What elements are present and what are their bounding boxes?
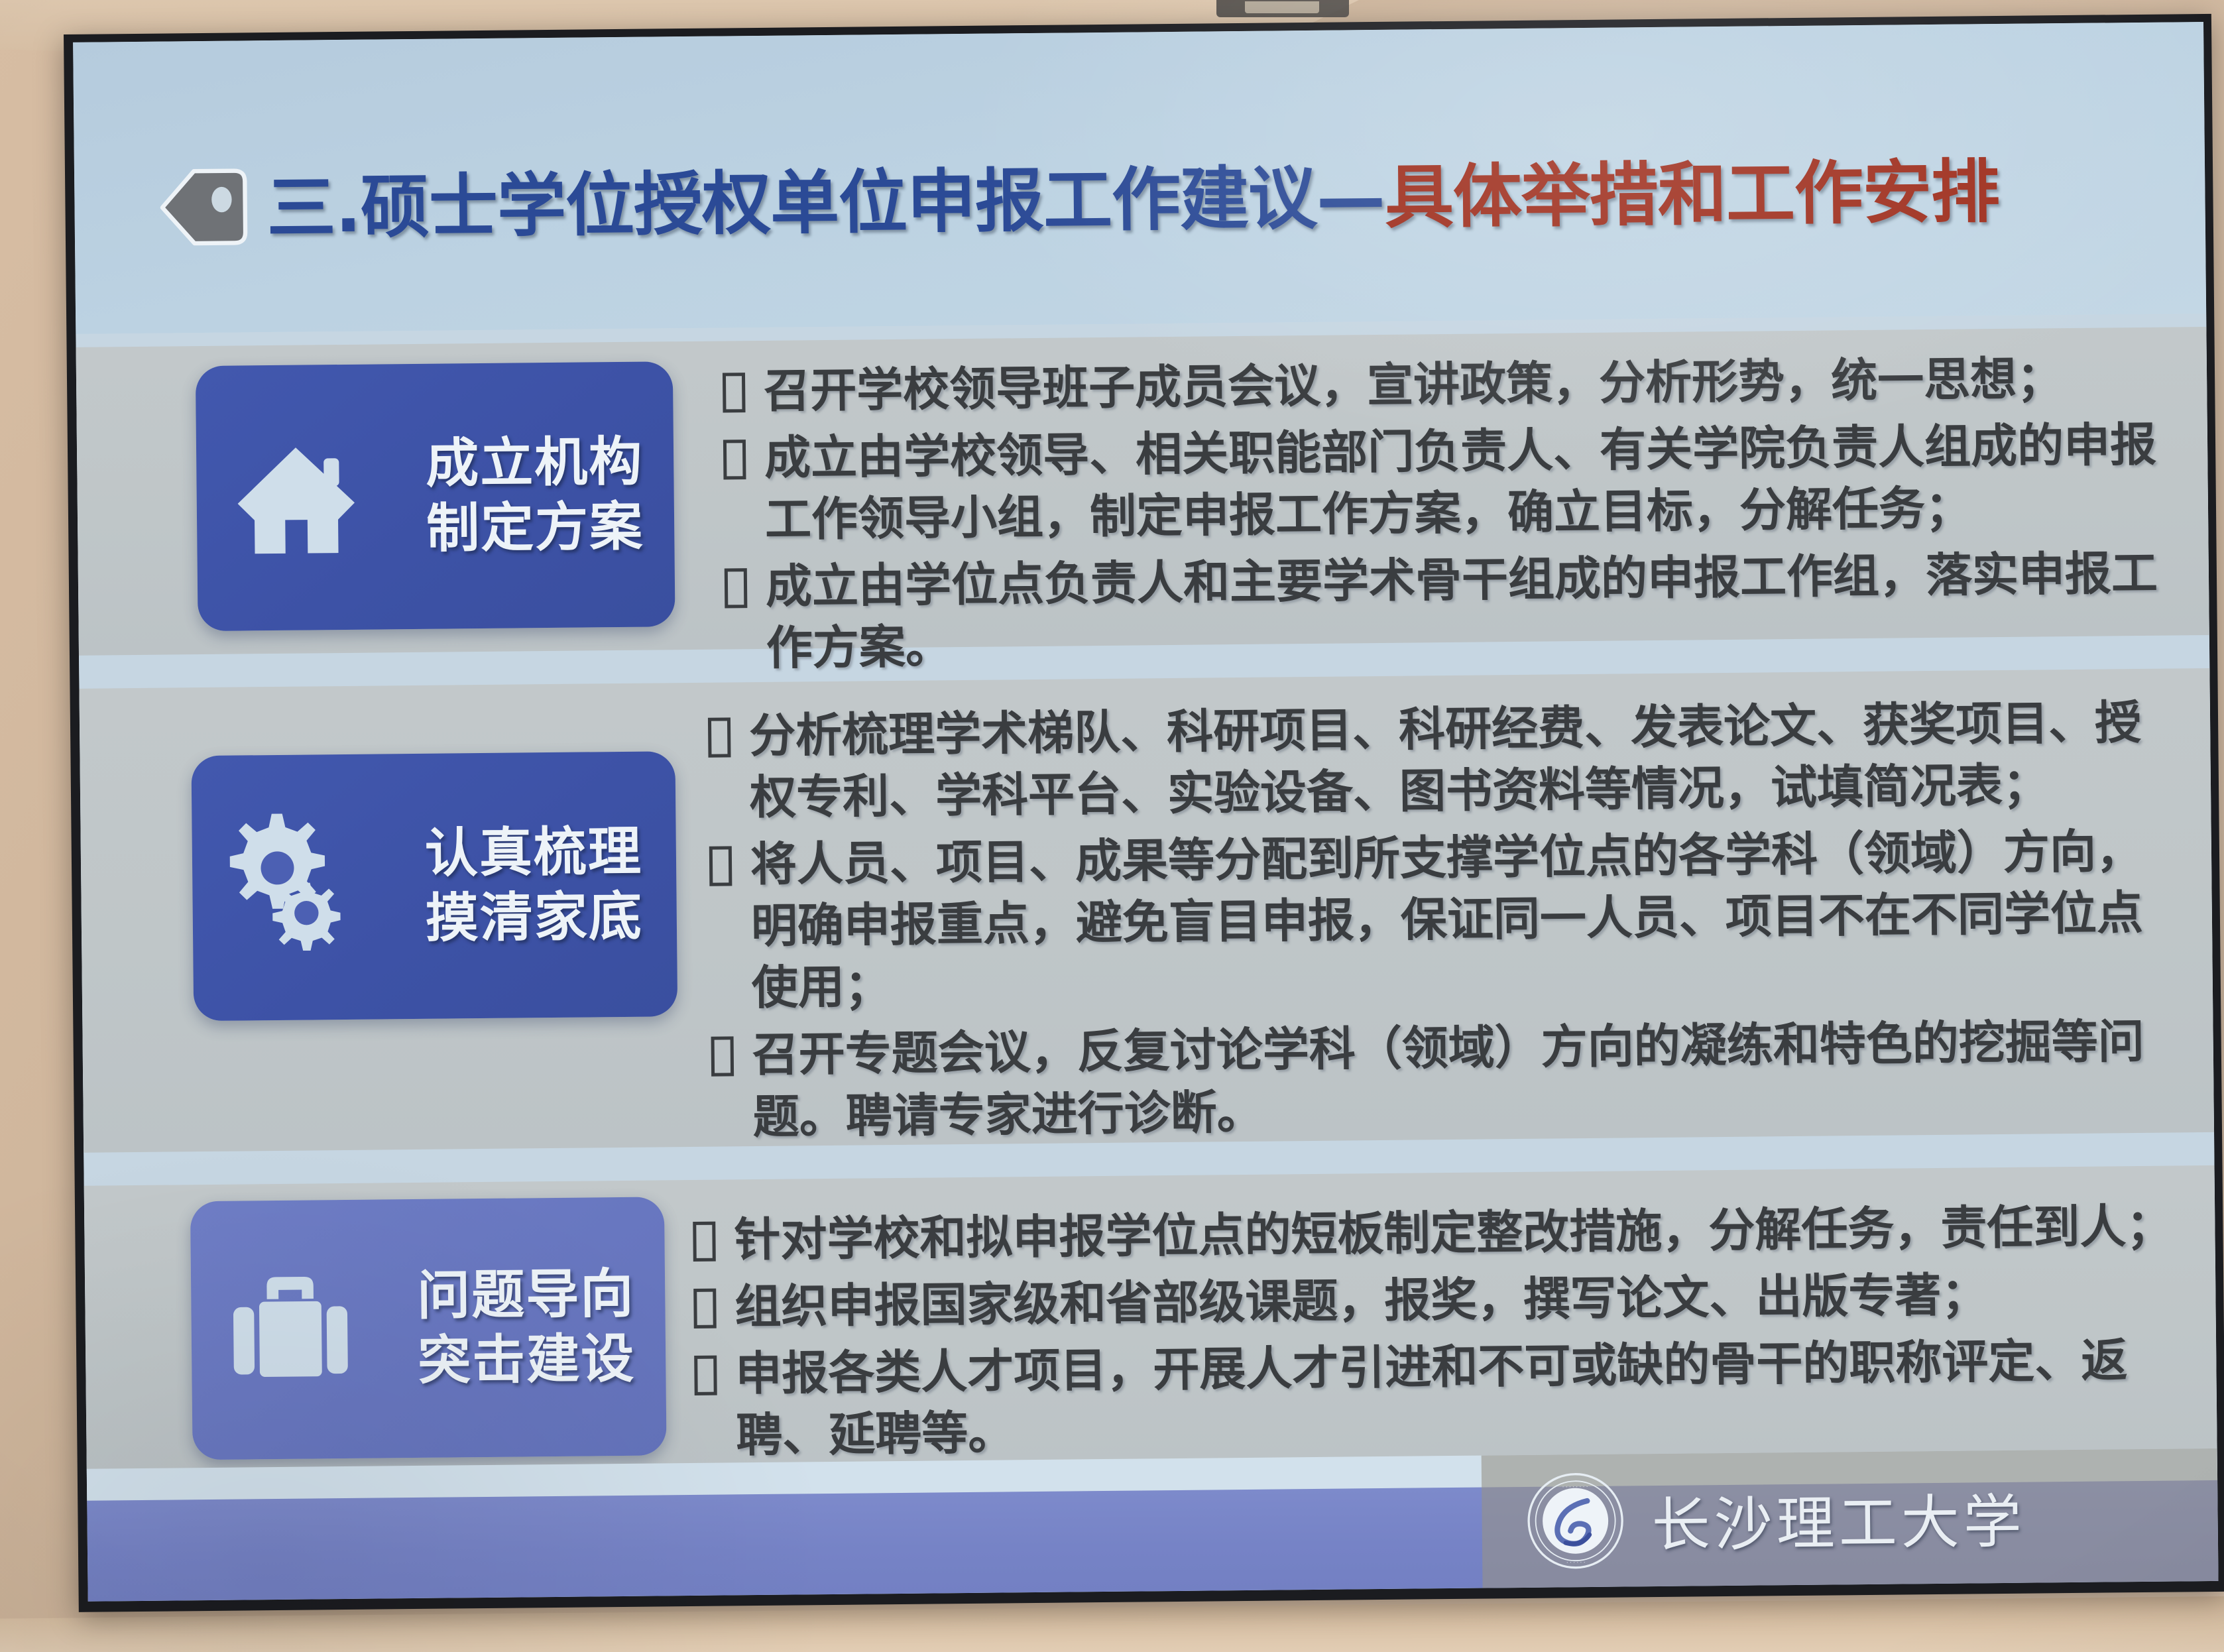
bullet-marker-icon bbox=[725, 568, 752, 608]
section-chip-3-label: 问题导向 突击建设 bbox=[386, 1262, 666, 1393]
page-title-main: 三.硕士学位授权单位申报工作建议— bbox=[266, 157, 1385, 249]
bullet-marker-icon bbox=[708, 717, 735, 757]
section-chip-2-line1: 认真梳理 bbox=[424, 819, 642, 886]
house-icon bbox=[196, 364, 397, 631]
page-title: 三.硕士学位授权单位申报工作建议—具体举措和工作安排 bbox=[266, 141, 2123, 258]
bullet-marker-icon bbox=[693, 1289, 721, 1328]
bullet-marker-icon bbox=[693, 1222, 720, 1262]
bullet-marker-icon bbox=[723, 440, 750, 479]
section-chip-3-line1: 问题导向 bbox=[417, 1262, 635, 1328]
ceiling-object-highlight bbox=[1245, 1, 1319, 13]
list-item-text: 成立由学校领导、相关职能部门负责人、有关学院负责人组成的申报工作领导小组，制定申… bbox=[764, 414, 2170, 552]
bullet-marker-icon bbox=[723, 373, 750, 412]
list-item: 将人员、项目、成果等分配到所支撑学位点的各学科（领域）方向，明确申报重点，避免盲… bbox=[709, 821, 2180, 1020]
section-chip-2-label: 认真梳理 摸清家底 bbox=[390, 819, 677, 951]
section-chip-2-line2: 摸清家底 bbox=[425, 884, 643, 951]
list-item: 成立由学位点负责人和主要学术骨干组成的申报工作组，落实申报工作方案。 bbox=[725, 543, 2171, 680]
list-item-text: 申报各类人才项目，开展人才引进和不可或缺的骨干的职称评定、返聘、延聘等。 bbox=[735, 1330, 2187, 1467]
section-bullets-3: 针对学校和拟申报学位点的短板制定整改措施，分解任务，责任到人； 组织申报国家级和… bbox=[693, 1195, 2187, 1467]
list-item: 召开学校领导班子成员会议，宣讲政策，分析形势，统一思想； bbox=[723, 347, 2168, 423]
slide-header: 三.硕士学位授权单位申报工作建议—具体举措和工作安排 bbox=[73, 22, 2206, 334]
list-item-text: 将人员、项目、成果等分配到所支撑学位点的各学科（领域）方向，明确申报重点，避免盲… bbox=[750, 821, 2180, 1020]
bullet-marker-icon bbox=[711, 1037, 738, 1077]
bullet-marker-icon bbox=[694, 1356, 721, 1395]
section-chip-1-line1: 成立机构 bbox=[426, 430, 644, 497]
tag-icon bbox=[147, 152, 255, 263]
page-title-accent: 具体举措和工作安排 bbox=[1384, 151, 1999, 238]
section-chip-3[interactable]: 问题导向 突击建设 bbox=[190, 1197, 667, 1460]
list-item-text: 召开学校领导班子成员会议，宣讲政策，分析形势，统一思想； bbox=[764, 347, 2168, 422]
list-item: 召开专题会议，反复讨论学科（领域）方向的凝练和特色的挖掘等问题。聘请专家进行诊断… bbox=[711, 1011, 2180, 1148]
list-item-text: 组织申报国家级和省部级课题，报奖，撰写论文、出版专著； bbox=[734, 1262, 2186, 1338]
section-chip-1[interactable]: 成立机构 制定方案 bbox=[196, 361, 675, 631]
section-chip-2[interactable]: 认真梳理 摸清家底 bbox=[191, 751, 677, 1021]
list-item-text: 成立由学位点负责人和主要学术骨干组成的申报工作组，落实申报工作方案。 bbox=[766, 543, 2171, 680]
list-item-text: 分析梳理学术梯队、科研项目、科研经费、发表论文、获奖项目、授权专利、学科平台、实… bbox=[749, 691, 2178, 829]
gears-icon bbox=[191, 754, 392, 1021]
bullet-marker-icon bbox=[709, 847, 736, 886]
section-chip-3-line2: 突击建设 bbox=[418, 1327, 636, 1393]
briefcase-icon bbox=[190, 1199, 388, 1460]
section-chip-1-line2: 制定方案 bbox=[426, 495, 644, 561]
list-item-text: 针对学校和拟申报学位点的短板制定整改措施，分解任务，责任到人； bbox=[734, 1195, 2185, 1271]
list-item: 分析梳理学术梯队、科研项目、科研经费、发表论文、获奖项目、授权专利、学科平台、实… bbox=[708, 691, 2178, 829]
projection-screen-bezel: 三.硕士学位授权单位申报工作建议—具体举措和工作安排 bbox=[64, 14, 2224, 1612]
list-item: 申报各类人才项目，开展人才引进和不可或缺的骨干的职称评定、返聘、延聘等。 bbox=[694, 1330, 2187, 1468]
university-brand: . . . . . . . . . . . . . . 长沙理工大学 bbox=[1482, 1448, 2219, 1588]
section-bullets-1: 召开学校领导班子成员会议，宣讲政策，分析形势，统一思想； 成立由学校领导、相关职… bbox=[723, 347, 2171, 680]
svg-text:. . . . . . . .: . . . . . . . . bbox=[1562, 1482, 1588, 1488]
presentation-slide: 三.硕士学位授权单位申报工作建议—具体举措和工作安排 bbox=[73, 22, 2218, 1602]
university-seal-icon: . . . . . . . . . . . . . . bbox=[1525, 1470, 1625, 1570]
university-name: 长沙理工大学 bbox=[1651, 1474, 2026, 1562]
photograph-of-projected-slide: 三.硕士学位授权单位申报工作建议—具体举措和工作安排 bbox=[0, 0, 2224, 1652]
slide-body: 成立机构 制定方案 召开学校领导班子成员会议，宣讲政策，分析形势，统一思想； 成… bbox=[76, 314, 2217, 1501]
list-item-text: 召开专题会议，反复讨论学科（领域）方向的凝练和特色的挖掘等问题。聘请专家进行诊断… bbox=[752, 1011, 2180, 1148]
section-chip-1-label: 成立机构 制定方案 bbox=[395, 430, 675, 561]
svg-text:. . . . . .: . . . . . . bbox=[1566, 1557, 1585, 1564]
section-bullets-2: 分析梳理学术梯队、科研项目、科研经费、发表论文、获奖项目、授权专利、学科平台、实… bbox=[708, 691, 2180, 1148]
list-item: 组织申报国家级和省部级课题，报奖，撰写论文、出版专著； bbox=[693, 1262, 2186, 1338]
list-item: 成立由学校领导、相关职能部门负责人、有关学院负责人组成的申报工作领导小组，制定申… bbox=[723, 414, 2170, 552]
